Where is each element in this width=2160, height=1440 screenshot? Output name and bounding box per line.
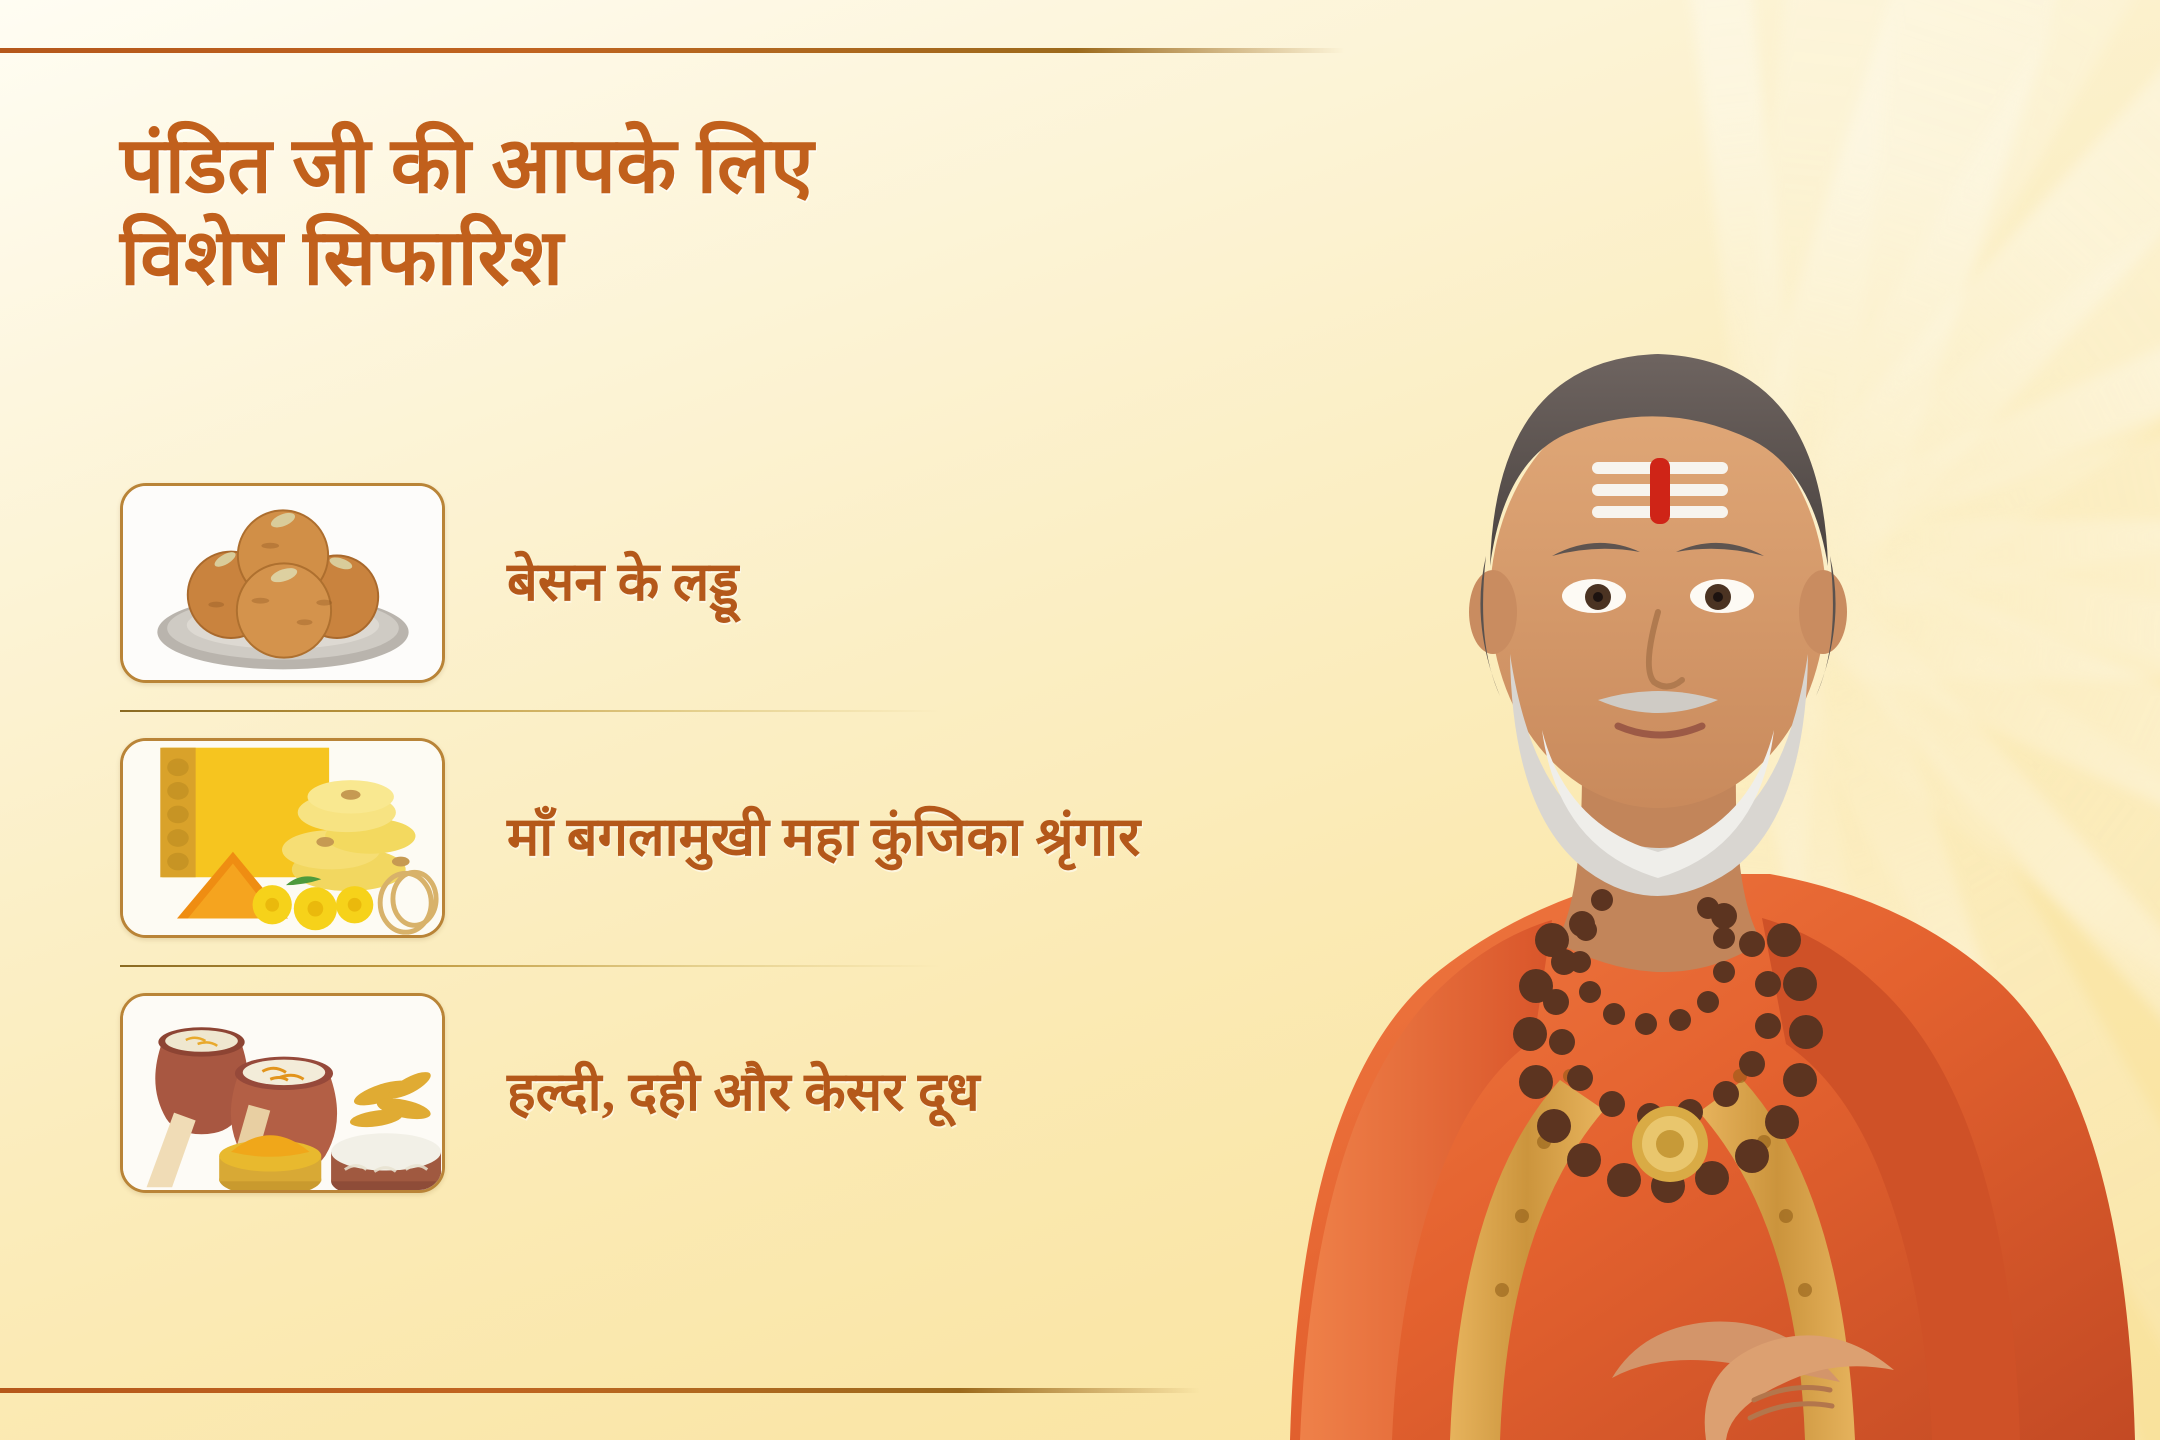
bottom-divider-rule [0, 1388, 1200, 1393]
promo-banner: पंडित जी की आपके लिए विशेष सिफारिश [0, 0, 2160, 1440]
headline-line-2: विशेष सिफारिश [120, 212, 1200, 304]
page-title: पंडित जी की आपके लिए विशेष सिफारिश [120, 120, 1200, 304]
list-item[interactable]: हल्दी, दही और केसर दूध [120, 965, 1180, 1220]
besan-laddu-plate-image [120, 483, 445, 683]
list-item[interactable]: माँ बगलामुखी महा कुंजिका श्रृंगार [120, 710, 1180, 965]
list-item[interactable]: बेसन के लड्डू [120, 455, 1180, 710]
saffron-milk-turmeric-curd-image [120, 993, 445, 1193]
top-divider-rule [0, 48, 1345, 53]
list-item-label: हल्दी, दही और केसर दूध [507, 1057, 980, 1127]
recommendation-list: बेसन के लड्डू [120, 455, 1180, 1220]
headline-line-1: पंडित जी की आपके लिए [120, 120, 1200, 212]
turmeric-peda-marigold-bangles-image [120, 738, 445, 938]
list-item-label: बेसन के लड्डू [507, 547, 739, 617]
avatar [1150, 0, 2160, 1440]
list-item-label: माँ बगलामुखी महा कुंजिका श्रृंगार [507, 802, 1140, 872]
